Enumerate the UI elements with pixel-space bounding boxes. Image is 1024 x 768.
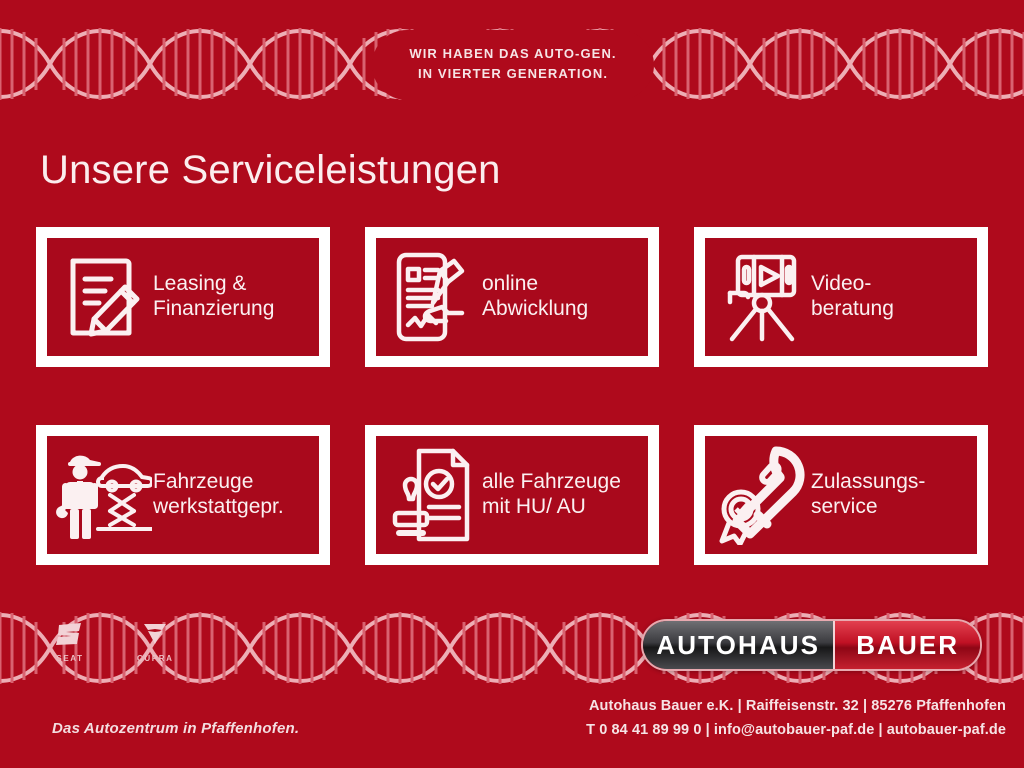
service-card-label: Leasing & Finanzierung bbox=[153, 272, 274, 322]
poster-root: Wir haben das Auto-Gen. In vierter Gener… bbox=[0, 0, 1024, 768]
header-tagline: Wir haben das Auto-Gen. In vierter Gener… bbox=[372, 44, 654, 84]
cupra-logo-label: CUPRA bbox=[137, 654, 173, 663]
mechanic-car-lift-icon bbox=[55, 445, 153, 545]
service-card-label: online Abwicklung bbox=[482, 272, 588, 322]
key-rosette-icon bbox=[713, 445, 811, 545]
service-card[interactable]: alle Fahrzeuge mit HU/ AU bbox=[365, 425, 659, 565]
header-tagline-line-1: Wir haben das Auto-Gen. bbox=[409, 46, 616, 61]
service-card[interactable]: Fahrzeuge werkstattgepr. bbox=[36, 425, 330, 565]
header-tagline-line-2: In vierter Generation. bbox=[418, 66, 608, 81]
brand-seat: SEAT bbox=[55, 622, 85, 663]
seat-logo-icon bbox=[55, 622, 85, 651]
brand-cupra: CUPRA bbox=[137, 622, 173, 663]
document-pencil-icon bbox=[55, 247, 153, 347]
document-stamp-check-icon bbox=[384, 445, 482, 545]
contact-address-line: Autohaus Bauer e.K. | Raiffeisenstr. 32 … bbox=[0, 695, 1006, 719]
contact-phone-email-line: T 0 84 41 89 99 0 | info@autobauer-paf.d… bbox=[0, 719, 1006, 743]
service-card[interactable]: Leasing & Finanzierung bbox=[36, 227, 330, 367]
seat-logo-label: SEAT bbox=[56, 654, 83, 663]
service-card-label: Fahrzeuge werkstattgepr. bbox=[153, 470, 284, 520]
logo-word-bauer: BAUER bbox=[856, 630, 959, 661]
video-camera-tripod-icon bbox=[713, 247, 811, 347]
service-card[interactable]: Video- beratung bbox=[694, 227, 988, 367]
service-cards-grid: Leasing & Finanzierung bbox=[36, 227, 988, 565]
service-card[interactable]: online Abwicklung bbox=[365, 227, 659, 367]
brand-logos: SEAT CUPRA bbox=[55, 622, 173, 663]
service-card-label: Video- beratung bbox=[811, 272, 894, 322]
phone-signature-icon bbox=[384, 247, 482, 347]
logo-word-autohaus: AUTOHAUS bbox=[656, 630, 820, 661]
page-title: Unsere Serviceleistungen bbox=[40, 148, 501, 193]
autohaus-bauer-logo[interactable]: AUTOHAUS BAUER bbox=[641, 619, 982, 671]
contact-info: Autohaus Bauer e.K. | Raiffeisenstr. 32 … bbox=[0, 695, 1006, 743]
logo-autohaus-section: AUTOHAUS bbox=[643, 621, 833, 669]
service-card-label: alle Fahrzeuge mit HU/ AU bbox=[482, 470, 621, 520]
cupra-logo-icon bbox=[142, 622, 168, 651]
service-card-label: Zulassungs- service bbox=[811, 470, 925, 520]
service-card[interactable]: Zulassungs- service bbox=[694, 425, 988, 565]
logo-bauer-section: BAUER bbox=[835, 621, 980, 669]
